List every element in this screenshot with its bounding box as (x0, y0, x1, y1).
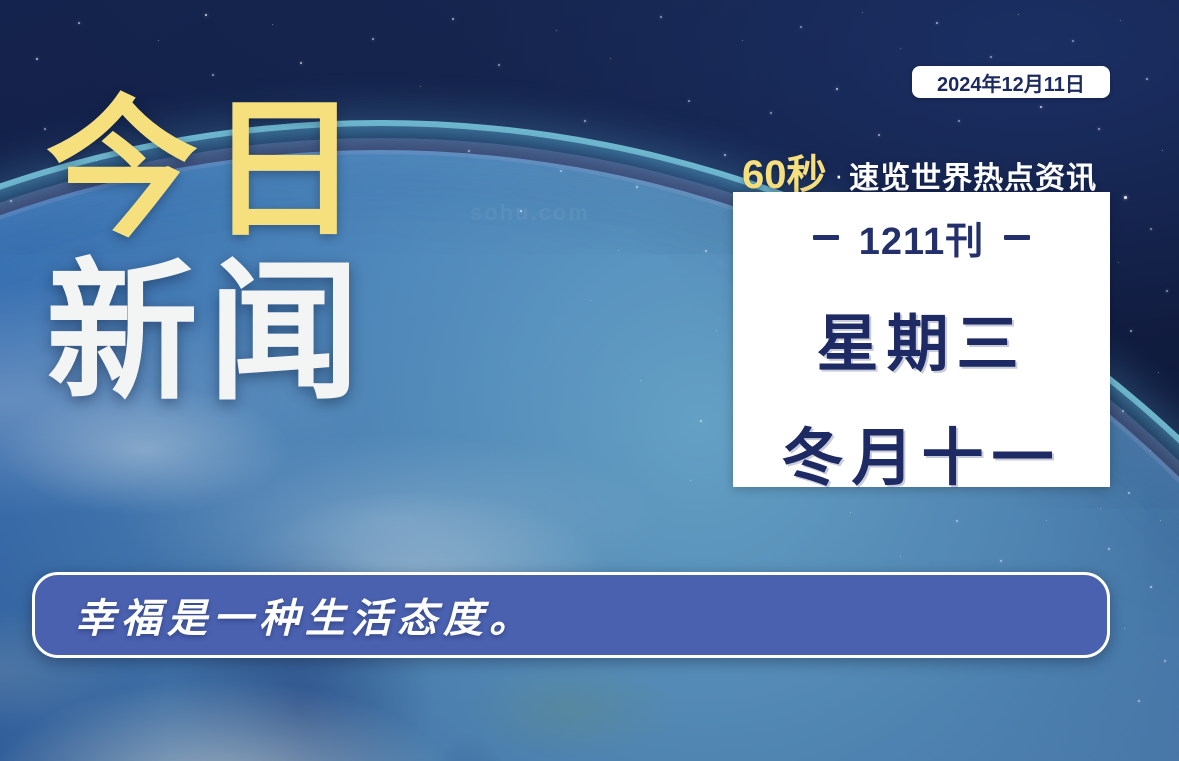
dash-right-icon (1004, 235, 1030, 240)
dash-left-icon (813, 235, 839, 240)
date-badge: 2024年12月11日 (912, 66, 1110, 98)
poster-canvas: sohu.com 今日 新闻 2024年12月11日 60秒 · 速览世界热点资… (0, 0, 1179, 761)
quote-banner: 幸福是一种生活态度。 (32, 572, 1110, 658)
tagline-rest: 速览世界热点资讯 (849, 153, 1097, 197)
weekday-label: 星期三 (816, 293, 1026, 383)
issue-row: 1211刊 (813, 210, 1030, 265)
tagline-separator-icon: · (835, 160, 844, 191)
quote-text: 幸福是一种生活态度。 (75, 586, 535, 644)
info-card: 1211刊 星期三 冬月十一 (733, 192, 1110, 487)
title-line-today: 今日 (46, 96, 370, 245)
title-line-news: 新闻 (46, 259, 370, 408)
lunar-date-label: 冬月十一 (781, 407, 1061, 497)
issue-number: 1211刊 (859, 210, 984, 265)
page-title: 今日 新闻 (46, 96, 370, 408)
